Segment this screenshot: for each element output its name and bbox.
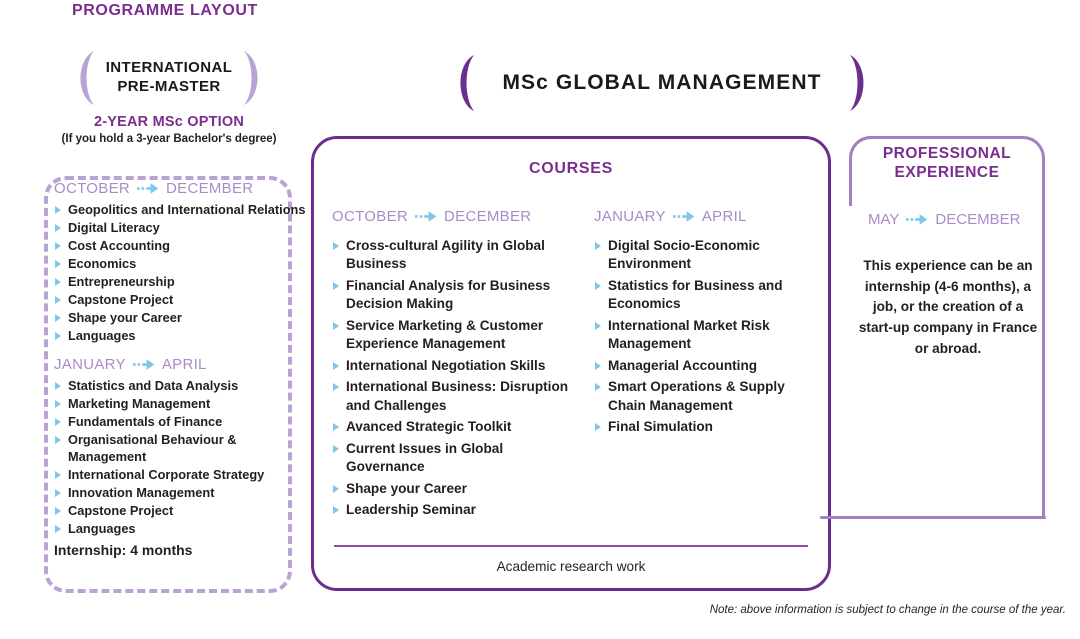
courses-column-oct-dec: OCTOBER DECEMBER Cross-cultural Agility … (332, 208, 572, 523)
period-from: OCTOBER (332, 208, 408, 225)
pre-master-heading-line2: PRE-MASTER (106, 78, 233, 97)
footnote: Note: above information is subject to ch… (710, 604, 1066, 616)
list-item: Shape your Career (332, 480, 572, 498)
course-list-courses-jan-apr: Digital Socio-Economic Environment Stati… (594, 237, 804, 437)
professional-experience-header-line2: EXPERIENCE (849, 163, 1045, 182)
period-to: DECEMBER (935, 211, 1020, 228)
period-to: DECEMBER (444, 208, 531, 225)
list-item: Innovation Management (54, 484, 306, 501)
bracket-right-icon (242, 50, 268, 106)
list-item: Final Simulation (594, 418, 804, 436)
courses-column-jan-apr: JANUARY APRIL Digital Socio-Economic Env… (594, 208, 804, 523)
courses-panel-header: COURSES (311, 160, 831, 178)
list-item: Current Issues in Global Governance (332, 440, 572, 477)
list-item: Geopolitics and International Relations (54, 201, 306, 218)
internship-label: Internship: 4 months (54, 542, 306, 558)
pre-master-block: INTERNATIONAL PRE-MASTER 2-YEAR MSc OPTI… (44, 48, 294, 145)
list-item: Cost Accounting (54, 237, 306, 254)
page-main-title: MSc GLOBAL MANAGEMENT (502, 71, 821, 95)
professional-experience-body: This experience can be an internship (4-… (855, 256, 1041, 359)
list-item: Entrepreneurship (54, 273, 306, 290)
list-item: Economics (54, 255, 306, 272)
list-item: Leadership Seminar (332, 501, 572, 519)
period-from: JANUARY (594, 208, 666, 225)
list-item: International Corporate Strategy (54, 466, 306, 483)
list-item: International Business: Disruption and C… (332, 378, 572, 415)
list-item: Avanced Strategic Toolkit (332, 418, 572, 436)
course-list-courses-oct-dec: Cross-cultural Agility in Global Busines… (332, 237, 572, 520)
pre-master-title-group: INTERNATIONAL PRE-MASTER (44, 48, 294, 108)
period-label-oct-dec-courses: OCTOBER DECEMBER (332, 208, 572, 225)
list-item: International Negotiation Skills (332, 357, 572, 375)
list-item: Managerial Accounting (594, 357, 804, 375)
period-to: APRIL (162, 356, 207, 373)
list-item: Digital Socio-Economic Environment (594, 237, 804, 274)
course-list-premaster-oct-dec: Geopolitics and International Relations … (54, 201, 306, 344)
pre-master-note: (If you hold a 3-year Bachelor's degree) (44, 133, 294, 145)
list-item: Capstone Project (54, 502, 306, 519)
list-item: Languages (54, 520, 306, 537)
list-item: Smart Operations & Supply Chain Manageme… (594, 378, 804, 415)
period-label-may-dec: MAY DECEMBER (868, 211, 1020, 228)
list-item: Organisational Behaviour & Management (54, 431, 306, 465)
list-item: Service Marketing & Customer Experience … (332, 317, 572, 354)
period-to: DECEMBER (166, 180, 253, 197)
professional-experience-header: PROFESSIONAL EXPERIENCE (849, 144, 1045, 183)
list-item: Shape your Career (54, 309, 306, 326)
list-item: Languages (54, 327, 306, 344)
main-title-group: MSc GLOBAL MANAGEMENT (452, 52, 872, 114)
arrow-right-icon (137, 182, 159, 195)
list-item: Digital Literacy (54, 219, 306, 236)
professional-experience-header-line1: PROFESSIONAL (849, 144, 1045, 163)
period-label-jan-apr-premaster: JANUARY APRIL (54, 356, 306, 373)
period-to: APRIL (702, 208, 747, 225)
bracket-left-icon (70, 50, 96, 106)
period-label-oct-dec-premaster: OCTOBER DECEMBER (54, 180, 306, 197)
research-divider (334, 545, 808, 547)
list-item: Statistics and Data Analysis (54, 377, 306, 394)
arrow-right-icon (133, 358, 155, 371)
list-item: Fundamentals of Finance (54, 413, 306, 430)
bracket-right-icon (848, 55, 872, 111)
period-from: OCTOBER (54, 180, 130, 197)
list-item: Cross-cultural Agility in Global Busines… (332, 237, 572, 274)
arrow-right-icon (673, 210, 695, 223)
list-item: Financial Analysis for Business Decision… (332, 277, 572, 314)
arrow-right-icon (906, 213, 928, 226)
list-item: International Market Risk Management (594, 317, 804, 354)
courses-columns: OCTOBER DECEMBER Cross-cultural Agility … (332, 208, 822, 523)
pre-master-subtitle: 2-YEAR MSc OPTION (44, 114, 294, 130)
pre-master-heading-line1: INTERNATIONAL (106, 59, 233, 78)
period-from: JANUARY (54, 356, 126, 373)
pre-master-heading: INTERNATIONAL PRE-MASTER (106, 59, 233, 97)
period-label-jan-apr-courses: JANUARY APRIL (594, 208, 804, 225)
page-title: PROGRAMME LAYOUT (72, 2, 258, 20)
research-label: Academic research work (311, 559, 831, 574)
list-item: Marketing Management (54, 395, 306, 412)
professional-experience-bottom-line (820, 516, 1046, 519)
list-item: Statistics for Business and Economics (594, 277, 804, 314)
bracket-left-icon (452, 55, 476, 111)
arrow-right-icon (415, 210, 437, 223)
course-list-premaster-jan-apr: Statistics and Data Analysis Marketing M… (54, 377, 306, 537)
period-from: MAY (868, 211, 899, 228)
pre-master-course-lists: OCTOBER DECEMBER Geopolitics and Interna… (54, 180, 306, 558)
list-item: Capstone Project (54, 291, 306, 308)
